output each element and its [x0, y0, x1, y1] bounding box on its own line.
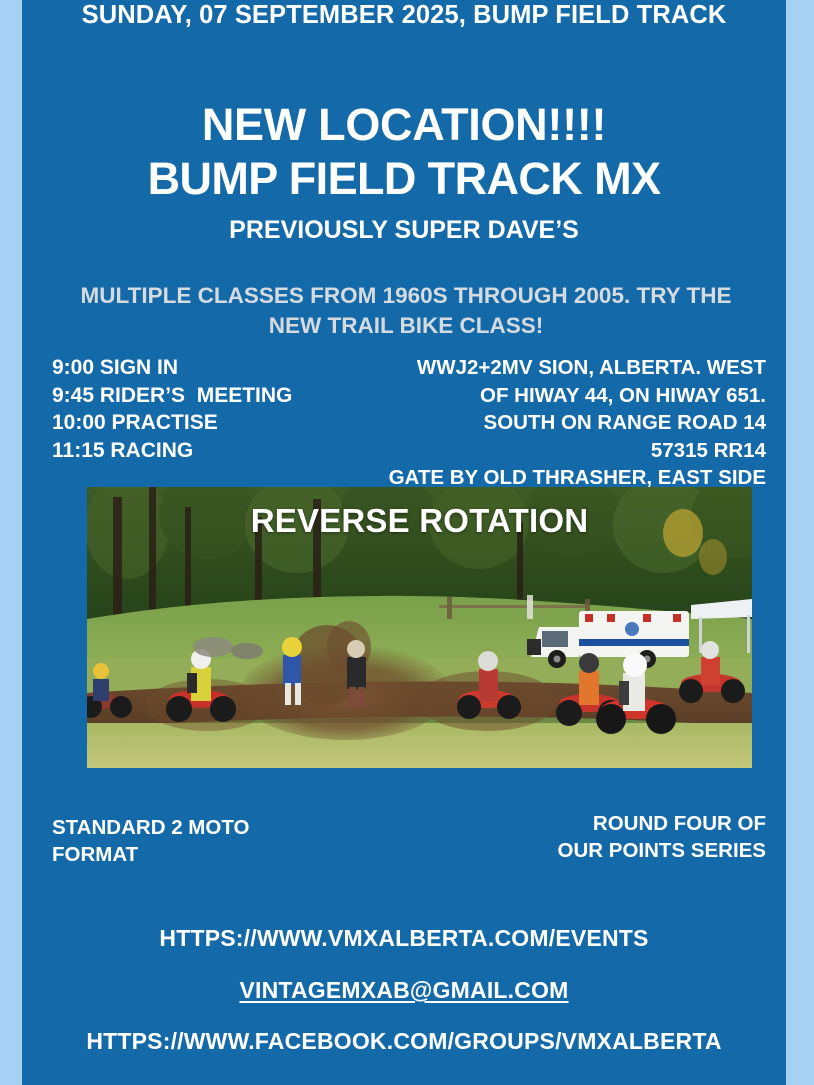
email-link[interactable]: VINTAGEMXAB@GMAIL.COM [32, 977, 776, 1004]
address-line: WWJ2+2MV SION, ALBERTA. WEST [366, 354, 766, 382]
page-title: BUMP FIELD TRACK MX [42, 152, 766, 206]
event-date-line: SUNDAY, 07 SEPTEMBER 2025, BUMP FIELD TR… [62, 0, 746, 32]
website-link[interactable]: HTTPS://WWW.VMXALBERTA.COM/EVENTS [32, 925, 776, 952]
race-format-line: STANDARD 2 MOTO [52, 814, 352, 841]
facebook-link[interactable]: HTTPS://WWW.FACEBOOK.COM/GROUPS/VMXALBER… [32, 1028, 776, 1055]
event-photo: REVERSE ROTATION [87, 487, 752, 768]
schedule-list: 9:00 SIGN IN 9:45 RIDER’S MEETING 10:00 … [52, 354, 382, 464]
race-format-block: STANDARD 2 MOTO FORMAT [52, 814, 352, 868]
address-line: OF HIWAY 44, ON HIWAY 651. [366, 382, 766, 410]
series-round-line: OUR POINTS SERIES [446, 837, 766, 864]
photo-caption: REVERSE ROTATION [87, 502, 752, 540]
event-poster: SUNDAY, 07 SEPTEMBER 2025, BUMP FIELD TR… [0, 0, 814, 1085]
address-block: WWJ2+2MV SION, ALBERTA. WEST OF HIWAY 44… [366, 354, 766, 492]
series-round-block: ROUND FOUR OF OUR POINTS SERIES [446, 810, 766, 864]
poster-panel: SUNDAY, 07 SEPTEMBER 2025, BUMP FIELD TR… [22, 0, 786, 1085]
previous-venue-name: PREVIOUSLY SUPER DAVE’S [42, 215, 766, 245]
address-line: SOUTH ON RANGE ROAD 14 [366, 409, 766, 437]
race-format-line: FORMAT [52, 841, 352, 868]
address-line: 57315 RR14 [366, 437, 766, 465]
series-round-line: ROUND FOUR OF [446, 810, 766, 837]
classes-blurb: MULTIPLE CLASSES FROM 1960S THROUGH 2005… [56, 281, 756, 341]
new-location-headline: NEW LOCATION!!!! [42, 98, 766, 152]
